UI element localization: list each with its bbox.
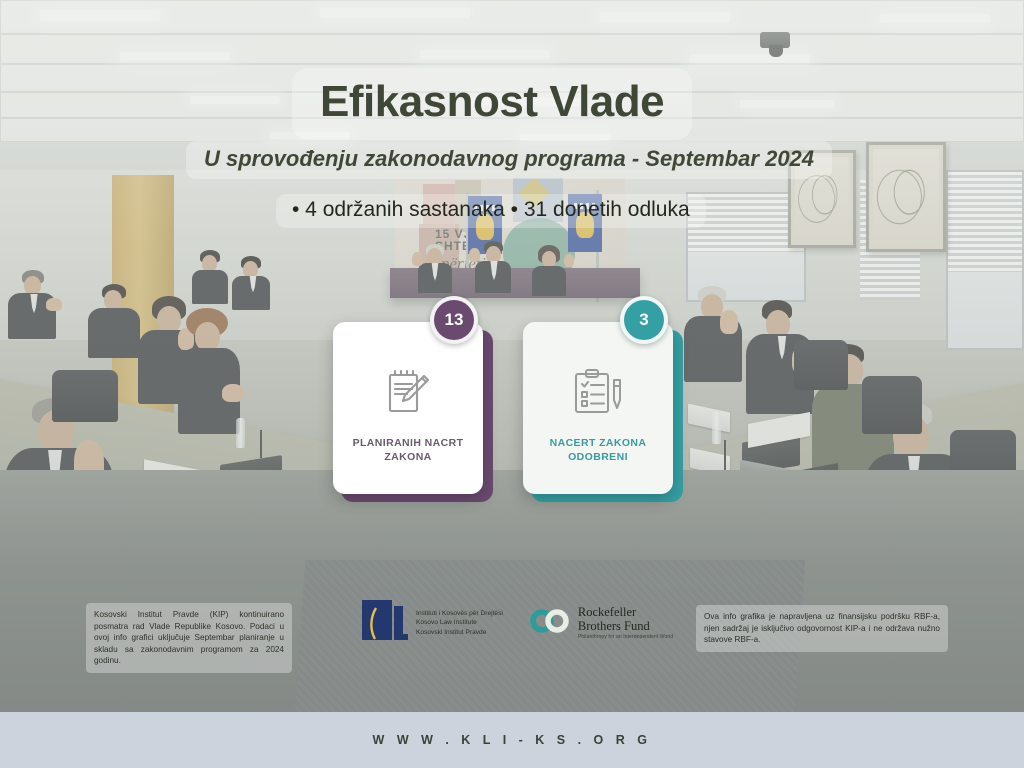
rbf-logo-text: Rockefeller Brothers Fund Philanthropy f… bbox=[578, 606, 673, 640]
card-body-approved: NACERT ZAKONA ODOBRENI bbox=[523, 322, 673, 494]
card-badge-value-approved: 3 bbox=[639, 310, 648, 330]
page-subtitle: U sprovođenju zakonodavnog programa - Se… bbox=[204, 146, 814, 172]
kli-logo-line3: Kosovski Institut Pravde bbox=[416, 628, 503, 637]
rbf-logo-tagline: Philanthropy for an Interdependent World bbox=[578, 635, 673, 640]
stat-cards: PLANIRANIH NACRT ZAKONA 13 bbox=[0, 288, 1024, 508]
disclaimer-left: Kosovski Institut Pravde (KIP) kontinuir… bbox=[86, 603, 292, 673]
card-label-approved: NACERT ZAKONA ODOBRENI bbox=[534, 436, 662, 464]
disclaimer-right: Ova info grafika je napravljena uz finan… bbox=[696, 605, 948, 652]
rbf-logo-line1: Rockefeller bbox=[578, 606, 673, 619]
kli-logo: Instituti i Kosovës për Drejtësi Kosovo … bbox=[362, 600, 503, 646]
kli-logo-text: Instituti i Kosovës për Drejtësi Kosovo … bbox=[416, 609, 503, 637]
stats-banner: • 4 održanih sastanaka • 31 donetih odlu… bbox=[276, 194, 706, 228]
card-badge-value-planned: 13 bbox=[445, 310, 464, 330]
kli-logo-line1: Instituti i Kosovës për Drejtësi bbox=[416, 609, 503, 618]
card-badge-planned: 13 bbox=[430, 296, 478, 344]
rockefeller-brothers-fund-logo: Rockefeller Brothers Fund Philanthropy f… bbox=[529, 606, 673, 640]
stats-line: • 4 održanih sastanaka • 31 donetih odlu… bbox=[292, 198, 690, 222]
infographic-poster: 15 VJET SHTET përjetë bbox=[0, 0, 1024, 768]
card-badge-approved: 3 bbox=[620, 296, 668, 344]
clipboard-checklist-pen-icon bbox=[570, 364, 626, 420]
card-body-planned: PLANIRANIH NACRT ZAKONA bbox=[333, 322, 483, 494]
website-url[interactable]: W W W . K L I - K S . O R G bbox=[373, 733, 652, 747]
subtitle-banner: U sprovođenju zakonodavnog programa - Se… bbox=[186, 141, 832, 179]
card-label-planned: PLANIRANIH NACRT ZAKONA bbox=[344, 436, 472, 464]
rbf-logo-line2: Brothers Fund bbox=[578, 620, 673, 633]
title-banner: Efikasnost Vlade bbox=[292, 68, 692, 140]
notepad-pencil-icon bbox=[380, 364, 436, 420]
website-url-bar: W W W . K L I - K S . O R G bbox=[0, 712, 1024, 768]
kli-logo-line2: Kosovo Law Institute bbox=[416, 618, 503, 627]
page-title: Efikasnost Vlade bbox=[320, 78, 664, 126]
rbf-rings-icon bbox=[529, 608, 571, 639]
kli-logo-mark bbox=[362, 600, 408, 646]
footer-logos: Instituti i Kosovës për Drejtësi Kosovo … bbox=[362, 600, 673, 646]
